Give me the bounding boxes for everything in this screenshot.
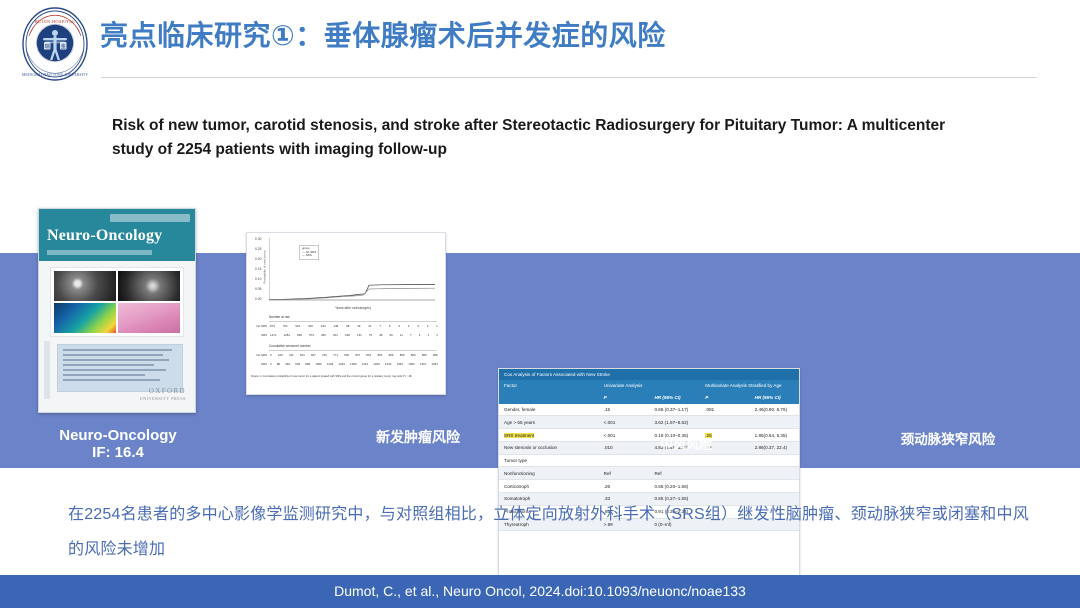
hospital-emblem-icon: RUIJIN HOSPITAL SHANGHAI JIAO TONG UNIVE…	[17, 6, 93, 82]
th-uni-p: P	[599, 392, 650, 404]
th-factor: Factor	[499, 380, 599, 392]
table-row: Corticotroph .26 0.55 (0.20–1.56)	[499, 480, 799, 493]
cover-volume-line: Volume 26 | Issue 7 | July 2024	[110, 214, 190, 222]
paper-title: Risk of new tumor, carotid stenosis, and…	[112, 114, 972, 162]
km1-ytick: 0.00	[255, 297, 261, 301]
km1-censor-row: No SRS 016031152463772077182084786186386…	[250, 353, 438, 357]
th-multivariate: Multivariate Analysis Stratified by Age	[700, 380, 799, 392]
svg-text:SHANGHAI JIAO TONG UNIVERSITY: SHANGHAI JIAO TONG UNIVERSITY	[22, 73, 89, 77]
km1-censor-values: 0884626948861060119312241289131213201343…	[270, 362, 438, 366]
km1-ytick: 0.15	[255, 267, 261, 271]
page-title: 亮点临床研究①：垂体腺瘤术后并发症的风险	[100, 16, 666, 56]
publisher-logo: OXFORD UNIVERSITY PRESS	[140, 387, 186, 403]
km1-ytick: 0.10	[255, 277, 261, 281]
perfusion-color-map-icon	[54, 303, 116, 333]
table-row: Age > 55 years <.001 3.62 (1.97–6.62)	[499, 416, 799, 429]
caption-journal-line1: Neuro-Oncology	[18, 427, 218, 444]
journal-cover: Volume 26 | Issue 7 | July 2024 Neuro-On…	[38, 208, 196, 413]
km1-x-axis-label: Years after radiosurgery	[269, 306, 437, 310]
km1-y-axis-label: Probability of new tumor	[263, 250, 267, 283]
summary-text: 在2254名患者的多中心影像学监测研究中，与对照组相比，立体定向放射外科手术（S…	[68, 497, 1033, 567]
km1-risk-row: SRS 147112818606734603011981317548261173…	[250, 333, 438, 337]
title-divider	[101, 77, 1037, 78]
th-univariate: Univariate Analysis	[599, 380, 701, 392]
km1-censor-values: 0160311524637720771820847861863866866866…	[270, 353, 438, 357]
caption-journal-line2: IF: 16.4	[18, 444, 218, 461]
mri-axial-skullbase-icon	[118, 271, 180, 301]
th-multi-hr: HR (95% CI)	[750, 392, 799, 404]
mri-axial-contrast-icon	[54, 271, 116, 301]
km1-figure-caption: Figure 1. Cumulative probability of new …	[251, 375, 441, 378]
svg-text:RUIJIN HOSPITAL: RUIJIN HOSPITAL	[35, 19, 75, 24]
slide-root: RUIJIN HOSPITAL SHANGHAI JIAO TONG UNIVE…	[0, 0, 1080, 608]
km1-risk-title: Number at risk	[269, 315, 290, 319]
table-row: Nonfunctioning Ref Ref	[499, 467, 799, 480]
th-blank	[499, 392, 599, 404]
km1-ytick: 0.25	[255, 247, 261, 251]
table-group-header: Factor Univariate Analysis Multivariate …	[499, 380, 799, 392]
km1-ytick: 0.20	[255, 257, 261, 261]
cover-contents-list	[57, 344, 183, 392]
svg-text:金: 金	[61, 42, 67, 50]
table-sub-header: P HR (95% CI) P HR (95% CI)	[499, 392, 799, 404]
km1-ytick: 0.30	[255, 237, 261, 241]
caption-new-tumor-risk: 新发肿瘤风险	[318, 429, 518, 446]
journal-subtitle: The Official Journal of the Society for …	[47, 250, 152, 255]
km1-risk-values: 8737045613462331489849217533321	[270, 324, 438, 328]
km1-legend: group — No SRS — SRS	[299, 245, 319, 260]
km1-risk-values: 14711281860673460301198131754826117311	[270, 333, 438, 337]
km1-risk-row: No SRS 8737045613462331489849217533321	[250, 324, 438, 328]
table-row: Tumor type	[499, 454, 799, 467]
km-curve-new-tumor: Probability of new tumor 0.30 0.25 0.20 …	[246, 232, 446, 395]
svg-text:瑞: 瑞	[45, 42, 50, 50]
table-title: Cox Analysis of Factors Associated with …	[499, 369, 799, 380]
cover-spine	[44, 341, 50, 399]
km1-plot-area	[269, 238, 437, 304]
km1-legend-item: — SRS	[302, 254, 316, 258]
th-uni-hr: HR (95% CI)	[649, 392, 700, 404]
he-histology-icon	[118, 303, 180, 333]
slide-header: RUIJIN HOSPITAL SHANGHAI JIAO TONG UNIVE…	[0, 0, 1080, 92]
caption-journal: Neuro-Oncology IF: 16.4	[18, 427, 218, 461]
caption-carotid-stenosis-risk: 颈动脉狭窄风险	[848, 431, 1048, 448]
caption-stroke-risk: 中风风险	[586, 436, 786, 453]
table-row: Gender, female .15 0.66 (0.37–1.17) .081…	[499, 404, 799, 416]
th-multi-p: P	[700, 392, 749, 404]
cover-thumbnail-grid	[50, 267, 184, 337]
journal-cover-image: Volume 26 | Issue 7 | July 2024 Neuro-On…	[38, 208, 196, 413]
km1-ytick: 0.05	[255, 287, 261, 291]
citation-text: Dumot, C., et al., Neuro Oncol, 2024.doi…	[0, 575, 1080, 608]
journal-name: Neuro-Oncology	[47, 227, 162, 245]
km1-censor-title: Cumulative censored number	[269, 344, 311, 348]
km1-censor-row: SRS 088462694886106011931224128913121320…	[250, 362, 438, 366]
